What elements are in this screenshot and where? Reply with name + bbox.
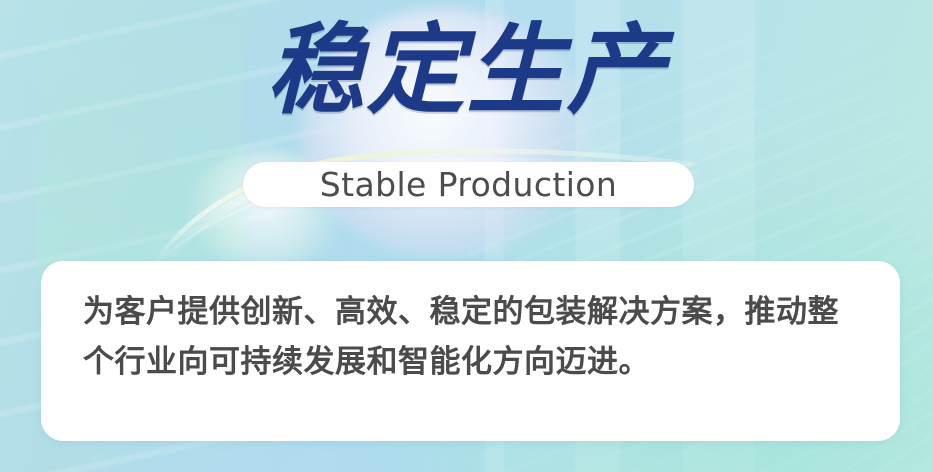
subtitle-pill-label: Stable Production [320, 168, 617, 201]
subtitle-pill: Stable Production [243, 162, 694, 207]
description-card: 为客户提供创新、高效、稳定的包装解决方案，推动整个行业向可持续发展和智能化方向迈… [41, 261, 900, 441]
description-text: 为客户提供创新、高效、稳定的包装解决方案，推动整个行业向可持续发展和智能化方向迈… [83, 287, 860, 387]
stable-production-banner: 稳定生产 Stable Production 为客户提供创新、高效、稳定的包装解… [0, 0, 933, 472]
page-title: 稳定生产 [0, 17, 933, 127]
